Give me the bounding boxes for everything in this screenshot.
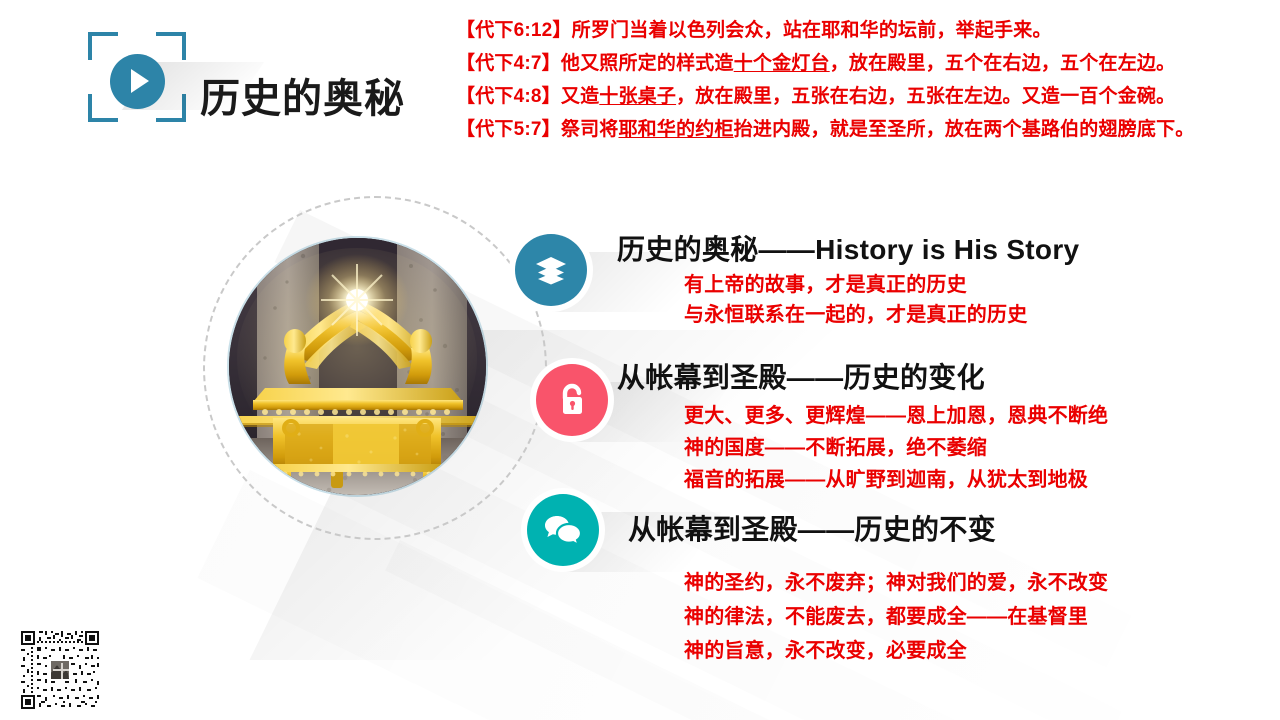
section-line: 与永恒联系在一起的，才是真正的历史 xyxy=(684,300,1027,330)
chat-bubbles-icon[interactable] xyxy=(527,494,599,566)
scripture-text-after: 抬进内殿，就是至圣所，放在两个基路伯的翅膀底下。 xyxy=(734,119,1195,140)
scripture-text-after: ，放在殿里，五张在右边，五张在左边。又造一百个金碗。 xyxy=(676,86,1175,107)
scripture-text: 又造 xyxy=(561,86,599,107)
section-lines: 更大、更多、更辉煌——恩上加恩，恩典不断绝 神的国度——不断拓展，绝不萎缩 福音… xyxy=(684,400,1108,496)
scripture-text: 他又照所定的样式造 xyxy=(561,53,734,74)
scripture-underlined: 耶和华的约柜 xyxy=(618,119,733,140)
scripture-text: 祭司将 xyxy=(561,119,619,140)
unlock-icon[interactable] xyxy=(536,364,608,436)
page-title: 历史的奥秘 xyxy=(200,66,405,124)
scripture-line: 【代下6:12】所罗门当着以色列会众，站在耶和华的坛前，举起手来。 xyxy=(456,14,1276,47)
scripture-ref: 【代下4:7】 xyxy=(456,53,561,74)
scripture-line: 【代下4:7】他又照所定的样式造十个金灯台，放在殿里，五个在右边，五个在左边。 xyxy=(456,47,1276,80)
section-line: 更大、更多、更辉煌——恩上加恩，恩典不断绝 xyxy=(684,400,1108,432)
scripture-line: 【代下5:7】祭司将耶和华的约柜抬进内殿，就是至圣所，放在两个基路伯的翅膀底下。 xyxy=(456,113,1276,146)
section-title: 从帐幕到圣殿——历史的不变 xyxy=(628,508,996,548)
header-logo-block: 历史的奥秘 xyxy=(88,28,488,126)
section-lines: 有上帝的故事，才是真正的历史 与永恒联系在一起的，才是真正的历史 xyxy=(684,270,1027,330)
scripture-ref: 【代下4:8】 xyxy=(456,86,561,107)
scripture-ref: 【代下5:7】 xyxy=(456,119,561,140)
scripture-line: 【代下4:8】又造十张桌子，放在殿里，五张在右边，五张在左边。又造一百个金碗。 xyxy=(456,80,1276,113)
scripture-underlined: 十张桌子 xyxy=(599,86,676,107)
ark-of-the-covenant-photo xyxy=(229,238,486,495)
section-title: 历史的奥秘——History is His Story xyxy=(617,228,1079,268)
layers-icon[interactable] xyxy=(515,234,587,306)
section-line: 神的旨意，永不改变，必要成全 xyxy=(684,634,1108,668)
scripture-block: 【代下6:12】所罗门当着以色列会众，站在耶和华的坛前，举起手来。 【代下4:7… xyxy=(456,14,1276,146)
scripture-text-after: ，放在殿里，五个在右边，五个在左边。 xyxy=(830,53,1176,74)
scripture-underlined: 十个金灯台 xyxy=(734,53,830,74)
section-line: 神的律法，不能废去，都要成全——在基督里 xyxy=(684,600,1108,634)
section-title: 从帐幕到圣殿——历史的变化 xyxy=(617,356,985,396)
scripture-ref: 【代下6:12】 xyxy=(456,20,572,41)
section-line: 有上帝的故事，才是真正的历史 xyxy=(684,270,1027,300)
scripture-text: 所罗门当着以色列会众，站在耶和华的坛前，举起手来。 xyxy=(572,20,1052,41)
section-line: 神的国度——不断拓展，绝不萎缩 xyxy=(684,432,1108,464)
qr-code-icon[interactable] xyxy=(19,629,101,711)
section-line: 福音的拓展——从旷野到迦南，从犹太到地极 xyxy=(684,464,1108,496)
slide-root: 历史的奥秘 【代下6:12】所罗门当着以色列会众，站在耶和华的坛前，举起手来。 … xyxy=(0,0,1280,720)
section-line: 神的圣约，永不废弃；神对我们的爱，永不改变 xyxy=(684,566,1108,600)
play-button-icon[interactable] xyxy=(110,54,165,109)
section-lines: 神的圣约，永不废弃；神对我们的爱，永不改变 神的律法，不能废去，都要成全——在基… xyxy=(684,566,1108,668)
